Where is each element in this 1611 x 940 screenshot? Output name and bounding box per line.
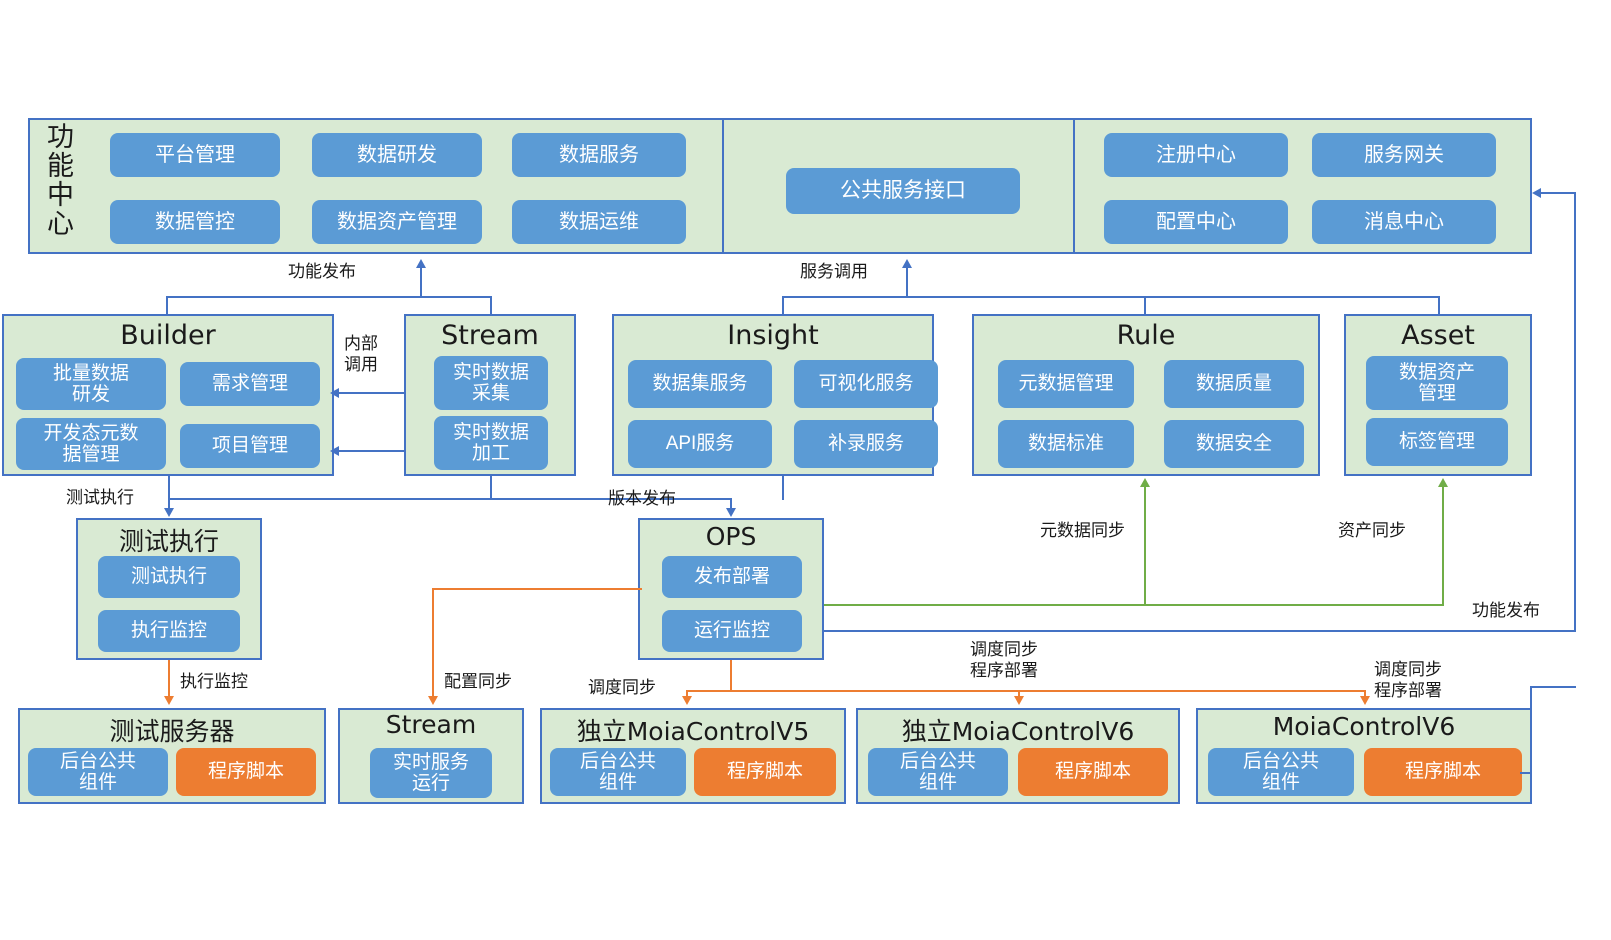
chip-supplement-service[interactable]: 补录服务 bbox=[794, 420, 938, 468]
chip-program-script-2[interactable]: 程序脚本 bbox=[694, 748, 836, 796]
label-version-release: 版本发布 bbox=[608, 489, 676, 510]
chip-platform-mgmt[interactable]: 平台管理 bbox=[110, 133, 280, 177]
panel-moia-v6-title: MoiaControlV6 bbox=[1196, 712, 1532, 741]
chip-dev-metadata-mgmt[interactable]: 开发态元数 据管理 bbox=[16, 418, 166, 470]
chip-data-asset-mgmt[interactable]: 数据资产管理 bbox=[312, 200, 482, 244]
label-test-exec: 测试执行 bbox=[66, 488, 134, 509]
conn-right-blue-down bbox=[1530, 686, 1532, 772]
conn-bus-mid bbox=[782, 296, 1146, 298]
chip-api-service[interactable]: API服务 bbox=[628, 420, 772, 468]
conn-insight-up bbox=[782, 296, 784, 316]
function-center-title: 功能中心 bbox=[44, 122, 71, 238]
arrow-internal-2 bbox=[330, 446, 339, 456]
chip-data-ops[interactable]: 数据运维 bbox=[512, 200, 686, 244]
conn-internal-v bbox=[404, 392, 406, 450]
panel-asset-title: Asset bbox=[1344, 320, 1532, 351]
panel-test-exec-title: 测试执行 bbox=[76, 522, 262, 558]
chip-data-standard[interactable]: 数据标准 bbox=[998, 420, 1134, 468]
label-internal-call: 内部 调用 bbox=[344, 334, 378, 377]
conn-rule-up bbox=[1144, 296, 1146, 316]
panel-ops-title: OPS bbox=[638, 522, 824, 551]
conn-internal-h2 bbox=[338, 450, 406, 452]
chip-runtime-monitor[interactable]: 运行监控 bbox=[662, 610, 802, 652]
arrow-schedule-sync-v5 bbox=[682, 696, 692, 705]
conn-stream-down bbox=[490, 476, 492, 500]
chip-dataset-service[interactable]: 数据集服务 bbox=[628, 360, 772, 408]
label-exec-monitor: 执行监控 bbox=[180, 672, 248, 693]
chip-data-governance[interactable]: 数据管控 bbox=[110, 200, 280, 244]
conn-right-blue-riser bbox=[1574, 192, 1576, 632]
arrow-test-exec bbox=[164, 508, 174, 517]
chip-project-mgmt[interactable]: 项目管理 bbox=[180, 424, 320, 468]
chip-data-asset-management[interactable]: 数据资产 管理 bbox=[1366, 356, 1508, 410]
panel-stream-title: Stream bbox=[404, 320, 576, 351]
conn-asset-up bbox=[1438, 296, 1440, 316]
panel-insight-title: Insight bbox=[612, 320, 934, 351]
conn-green-bus bbox=[824, 604, 1444, 606]
conn-exec-monitor bbox=[168, 660, 170, 698]
chip-backend-common-3[interactable]: 后台公共 组件 bbox=[868, 748, 1008, 796]
arrow-config-sync bbox=[428, 696, 438, 705]
chip-data-security[interactable]: 数据安全 bbox=[1164, 420, 1304, 468]
arrow-feature-publish-right bbox=[1532, 188, 1541, 198]
chip-visualization-service[interactable]: 可视化服务 bbox=[794, 360, 938, 408]
label-feature-publish-top: 功能发布 bbox=[288, 262, 356, 283]
chip-batch-data-dev[interactable]: 批量数据 研发 bbox=[16, 358, 166, 410]
arrow-version-release bbox=[726, 508, 736, 517]
chip-program-script-3[interactable]: 程序脚本 bbox=[1018, 748, 1168, 796]
chip-realtime-collect[interactable]: 实时数据 采集 bbox=[434, 356, 548, 410]
label-service-call: 服务调用 bbox=[800, 262, 868, 283]
conn-right-blue-top bbox=[1540, 192, 1576, 194]
conn-builder-up bbox=[166, 296, 168, 316]
conn-green-to-rule bbox=[1144, 486, 1146, 606]
arrow-internal-1 bbox=[330, 388, 339, 398]
arrow-schedule-sync-v6 bbox=[1014, 696, 1024, 705]
conn-ops-bottom bbox=[730, 660, 732, 690]
conn-bus-right bbox=[1144, 296, 1440, 298]
band-divider-1 bbox=[722, 118, 724, 254]
chip-backend-common-4[interactable]: 后台公共 组件 bbox=[1208, 748, 1354, 796]
arrow-service-call bbox=[902, 259, 912, 268]
chip-config-center[interactable]: 配置中心 bbox=[1104, 200, 1288, 244]
chip-program-script-1[interactable]: 程序脚本 bbox=[176, 748, 316, 796]
chip-public-service-api[interactable]: 公共服务接口 bbox=[786, 168, 1020, 214]
arrow-asset-sync bbox=[1438, 478, 1448, 487]
arrow-meta-sync bbox=[1140, 478, 1150, 487]
conn-config-sync-h bbox=[432, 588, 642, 590]
label-asset-sync: 资产同步 bbox=[1338, 521, 1406, 542]
conn-bus-left bbox=[166, 296, 492, 298]
chip-message-center[interactable]: 消息中心 bbox=[1312, 200, 1496, 244]
label-schedule-deploy-right: 调度同步 程序部署 bbox=[1374, 660, 1442, 703]
chip-backend-common-2[interactable]: 后台公共 组件 bbox=[550, 748, 686, 796]
chip-service-gateway[interactable]: 服务网关 bbox=[1312, 133, 1496, 177]
conn-green-to-asset bbox=[1442, 486, 1444, 606]
conn-config-sync-v bbox=[432, 588, 434, 698]
conn-orange-fanout bbox=[686, 690, 1364, 692]
chip-realtime-process[interactable]: 实时数据 加工 bbox=[434, 416, 548, 470]
arrow-feature-publish-top bbox=[416, 259, 426, 268]
conn-service-call-riser bbox=[906, 268, 908, 298]
label-schedule-deploy-mid: 调度同步 程序部署 bbox=[970, 640, 1038, 683]
chip-data-dev[interactable]: 数据研发 bbox=[312, 133, 482, 177]
chip-requirement-mgmt[interactable]: 需求管理 bbox=[180, 362, 320, 406]
architecture-diagram: 功能中心 平台管理 数据研发 数据服务 数据管控 数据资产管理 数据运维 公共服… bbox=[0, 0, 1611, 940]
conn-internal-h1 bbox=[338, 392, 406, 394]
chip-test-execution[interactable]: 测试执行 bbox=[98, 556, 240, 598]
label-feature-publish-right: 功能发布 bbox=[1472, 601, 1540, 622]
panel-rule-title: Rule bbox=[972, 320, 1320, 351]
conn-stream-up bbox=[490, 296, 492, 316]
chip-program-script-4[interactable]: 程序脚本 bbox=[1364, 748, 1522, 796]
panel-standalone-moia-v6-title: 独立MoiaControlV6 bbox=[856, 712, 1180, 748]
chip-release-deploy[interactable]: 发布部署 bbox=[662, 556, 802, 598]
panel-builder-title: Builder bbox=[2, 320, 334, 351]
conn-insight-down bbox=[782, 476, 784, 500]
chip-backend-common-1[interactable]: 后台公共 组件 bbox=[28, 748, 168, 796]
panel-test-server-title: 测试服务器 bbox=[18, 712, 326, 748]
label-config-sync: 配置同步 bbox=[444, 672, 512, 693]
panel-standalone-moia-v5-title: 独立MoiaControlV5 bbox=[540, 712, 846, 748]
conn-right-blue-into-v6 bbox=[1520, 772, 1532, 774]
conn-feature-publish-riser bbox=[420, 268, 422, 298]
conn-right-blue-from-ops bbox=[824, 630, 1576, 632]
chip-metadata-mgmt[interactable]: 元数据管理 bbox=[998, 360, 1134, 408]
chip-execution-monitor[interactable]: 执行监控 bbox=[98, 610, 240, 652]
chip-registry-center[interactable]: 注册中心 bbox=[1104, 133, 1288, 177]
chip-tag-management[interactable]: 标签管理 bbox=[1366, 418, 1508, 466]
arrow-exec-monitor bbox=[164, 696, 174, 705]
chip-data-quality[interactable]: 数据质量 bbox=[1164, 360, 1304, 408]
chip-data-service[interactable]: 数据服务 bbox=[512, 133, 686, 177]
band-divider-2 bbox=[1073, 118, 1075, 254]
panel-stream-server-title: Stream bbox=[338, 710, 524, 739]
chip-realtime-service-run[interactable]: 实时服务 运行 bbox=[370, 748, 492, 798]
label-schedule-sync-1: 调度同步 bbox=[588, 678, 656, 699]
conn-right-blue-bottom bbox=[1532, 686, 1576, 688]
arrow-schedule-sync-moia bbox=[1360, 696, 1370, 705]
label-meta-sync: 元数据同步 bbox=[1040, 521, 1125, 542]
